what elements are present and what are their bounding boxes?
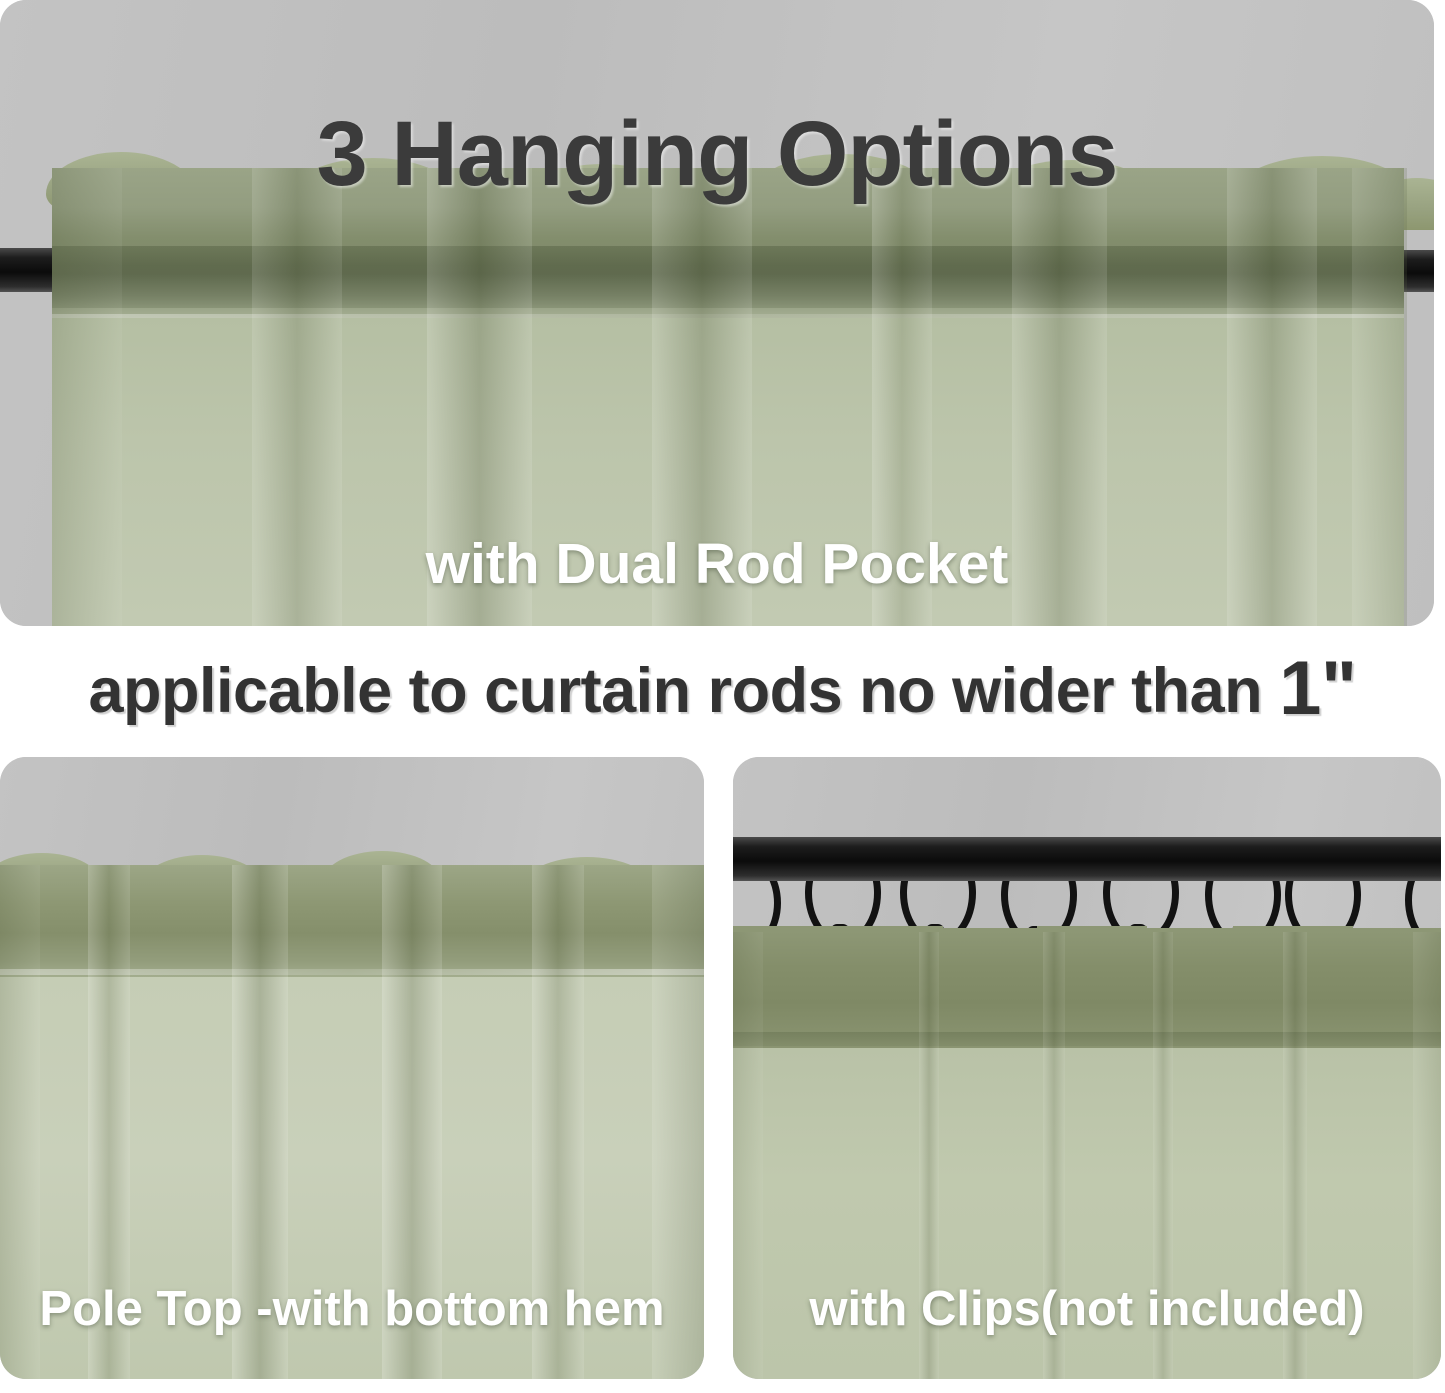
pocket-seam	[0, 969, 704, 975]
header-seam	[733, 1032, 1441, 1046]
caption-clips: with Clips(not included)	[733, 1281, 1441, 1337]
rod-width-note-text: applicable to curtain rods no wider than	[89, 656, 1280, 726]
caption-pole-top: Pole Top -with bottom hem	[0, 1281, 704, 1337]
rod-width-note: applicable to curtain rods no wider than…	[0, 645, 1445, 732]
panel-clips: with Clips(not included)	[733, 757, 1441, 1379]
rod-width-measurement: 1"	[1279, 646, 1356, 731]
rod-shadow-band	[52, 246, 1404, 308]
rod-pocket-header	[0, 865, 704, 979]
caption-dual-rod-pocket: with Dual Rod Pocket	[0, 531, 1434, 597]
panel-dual-rod-pocket: 3 Hanging Options with Dual Rod Pocket	[0, 0, 1434, 626]
panel-pole-top: Pole Top -with bottom hem	[0, 757, 704, 1379]
curtain-rod	[733, 837, 1441, 881]
page-title: 3 Hanging Options	[0, 102, 1434, 207]
